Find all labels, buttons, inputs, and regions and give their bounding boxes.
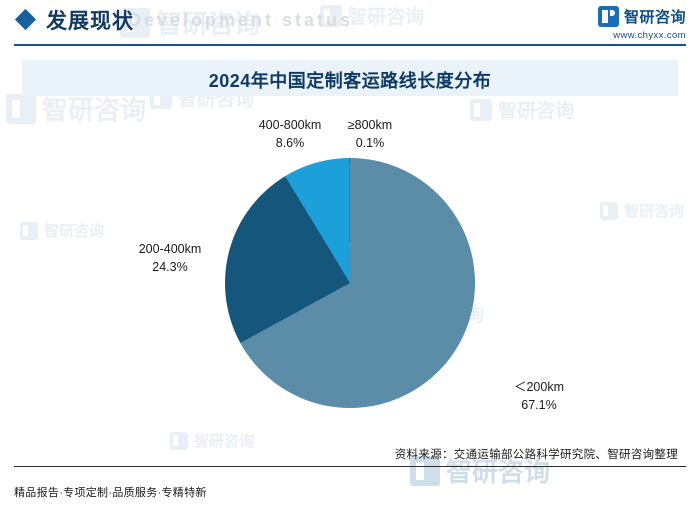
chart-title-bar: 2024年中国定制客运路线长度分布 <box>22 60 678 96</box>
pie-label-name: 400-800km <box>240 116 340 134</box>
pie-label-name: ≥800km <box>330 116 410 134</box>
chart-area: 400-800km 8.6% ≥800km 0.1% 200-400km 24.… <box>0 96 700 466</box>
chart-title: 2024年中国定制客运路线长度分布 <box>22 67 678 93</box>
pie-label-200-400km: 200-400km 24.3% <box>118 240 222 276</box>
chart-source: 资料来源：交通运输部公路科学研究院、智研咨询整理 <box>395 446 678 462</box>
pie-label-name: 200-400km <box>118 240 222 258</box>
brand-url[interactable]: www.chyxx.com <box>598 30 686 41</box>
diamond-icon <box>15 9 36 30</box>
pie-label-value: 0.1% <box>330 134 410 152</box>
pie-label-value: 24.3% <box>118 258 222 276</box>
header-subtitle: Development status <box>128 10 353 31</box>
footer-tagline: 精品报告·专项定制·品质服务·专精特新 <box>14 484 207 500</box>
page-header: Development status 发展现状 智研咨询 www.chyxx.c… <box>0 0 700 46</box>
brand-block: 智研咨询 www.chyxx.com <box>598 6 686 41</box>
pie-label-value: 67.1% <box>494 396 584 414</box>
pie-slices <box>225 158 475 408</box>
pie-label-800km: ≥800km 0.1% <box>330 116 410 152</box>
page-title: 发展现状 <box>46 5 134 35</box>
pie-label-under-200km: ＜200km 67.1% <box>494 378 584 414</box>
header-divider <box>14 44 686 46</box>
slide-page: 智研咨询 智研咨询 智研咨询 智研咨询 智研咨询 智研咨询 智研咨询 智研咨询 … <box>0 0 700 513</box>
pie-label-400-800km: 400-800km 8.6% <box>240 116 340 152</box>
brand-row: 智研咨询 <box>598 6 686 27</box>
footer-divider <box>14 466 686 467</box>
pie-label-value: 8.6% <box>240 134 340 152</box>
brand-logo-icon <box>598 6 619 27</box>
pie-chart <box>225 158 475 408</box>
pie-label-name: ＜200km <box>494 378 584 396</box>
brand-name: 智研咨询 <box>624 6 686 27</box>
